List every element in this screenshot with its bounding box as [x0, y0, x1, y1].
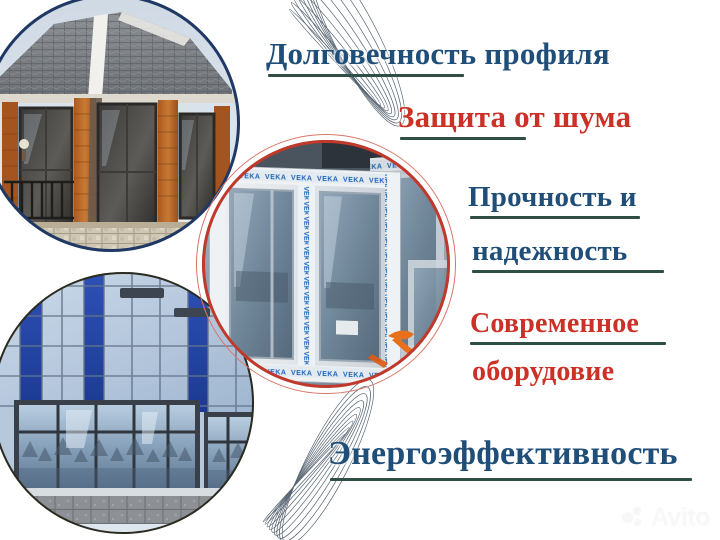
headline-line-1: Долговечность профиля	[266, 38, 610, 69]
avito-watermark-text: Avito	[651, 503, 710, 532]
headline-line-3: Прочность и	[468, 183, 637, 212]
wooden-log-house-photo	[0, 0, 240, 252]
headline-line-5: Современное	[470, 310, 639, 338]
avito-logo-icon	[622, 507, 646, 529]
headline-rule-3	[470, 216, 640, 219]
headline-line-2: Защита от шума	[398, 101, 631, 132]
headline-rule-7	[330, 478, 692, 481]
headline-column: Долговечность профиля Защита от шума Про…	[246, 0, 720, 540]
headline-rule-2	[400, 137, 526, 140]
headline-line-6: оборудовие	[472, 358, 614, 386]
headline-line-7: Энергоэффективность	[328, 437, 678, 471]
headline-rule-1	[268, 74, 464, 77]
avito-watermark: Avito	[622, 503, 710, 532]
headline-line-4: надежность	[472, 237, 627, 266]
headline-rule-5	[470, 342, 666, 345]
headline-rule-4	[472, 270, 664, 273]
banner-canvas: VEKA VEKA	[0, 0, 720, 540]
